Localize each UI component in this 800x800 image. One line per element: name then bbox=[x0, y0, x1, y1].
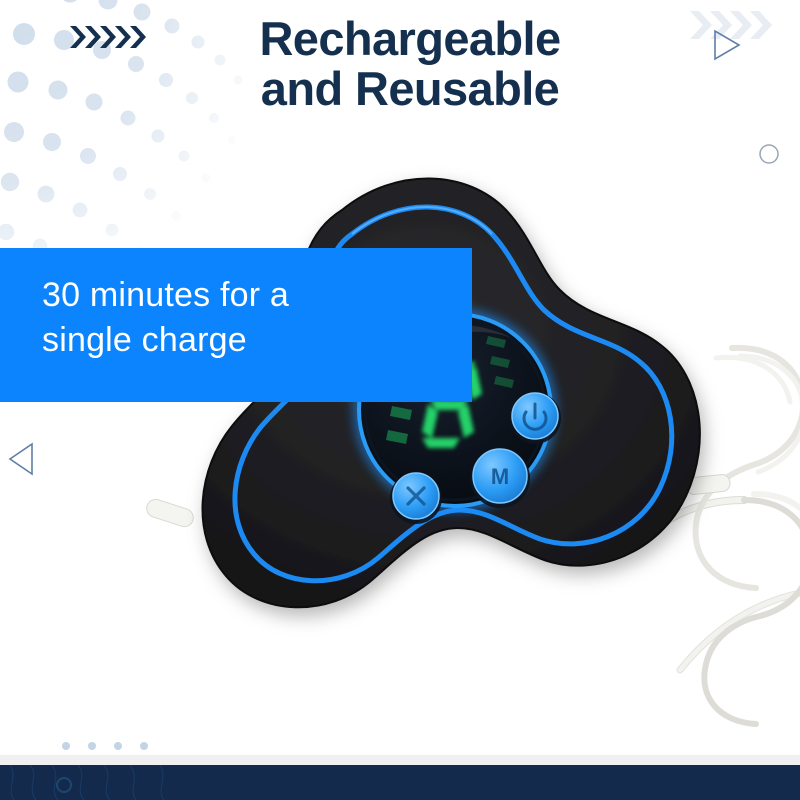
power-button[interactable] bbox=[509, 392, 561, 444]
banner-line-2: single charge bbox=[42, 318, 462, 363]
left-triangle-outline bbox=[8, 442, 34, 476]
chevron-group-left bbox=[70, 24, 152, 50]
intensity-button[interactable] bbox=[390, 472, 442, 524]
banner-line-1: 30 minutes for a bbox=[42, 273, 462, 318]
charge-time-banner-text: 30 minutes for a single charge bbox=[42, 273, 462, 363]
svg-text:M: M bbox=[491, 464, 509, 489]
mode-button[interactable]: M bbox=[470, 448, 530, 508]
title-line-1: Rechargeable bbox=[150, 14, 670, 64]
promo-image: Rechargeable and Reusable bbox=[0, 0, 800, 800]
title-line-2: and Reusable bbox=[150, 64, 670, 114]
footer-bar bbox=[0, 765, 800, 800]
chevron-group-right bbox=[690, 8, 776, 42]
page-title: Rechargeable and Reusable bbox=[150, 14, 670, 115]
product-image: M bbox=[120, 150, 800, 730]
footer-separator bbox=[0, 755, 800, 765]
